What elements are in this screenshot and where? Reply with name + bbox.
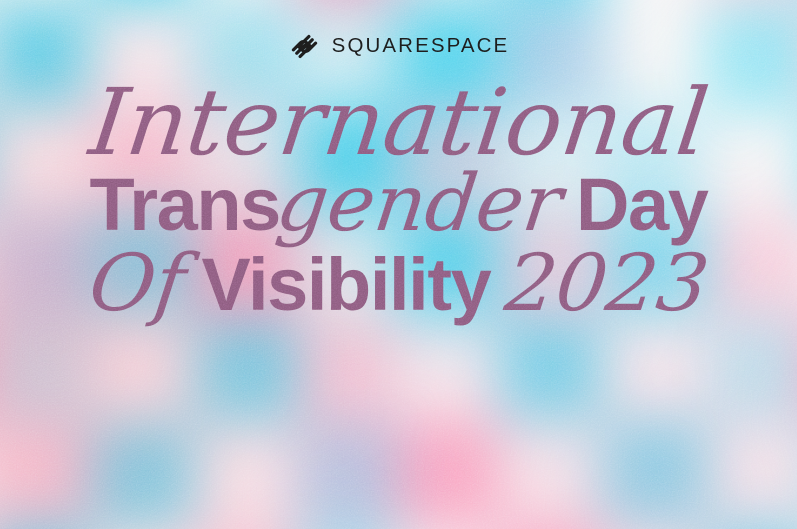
squarespace-logo-mark: [288, 30, 321, 63]
headline-word-of: Of: [86, 245, 190, 323]
headline-word-year: 2023: [501, 245, 712, 323]
headline-word-visibility: Visibility: [201, 243, 490, 326]
poster-canvas: SQUARESPACE International TransgenderDay…: [0, 0, 797, 529]
headline-word-gender: gender: [272, 165, 565, 243]
squarespace-wordmark: SQUARESPACE: [332, 36, 510, 57]
headline-block: International TransgenderDay OfVisibilit…: [0, 77, 797, 324]
headline-word-international: International: [85, 77, 712, 169]
poster-content: SQUARESPACE International TransgenderDay…: [0, 0, 797, 529]
headline-line-1: International: [0, 77, 797, 169]
squarespace-logo-lockup: SQUARESPACE: [288, 30, 510, 63]
headline-line-2: TransgenderDay: [0, 165, 797, 243]
headline-line-3: OfVisibility2023: [0, 245, 797, 323]
